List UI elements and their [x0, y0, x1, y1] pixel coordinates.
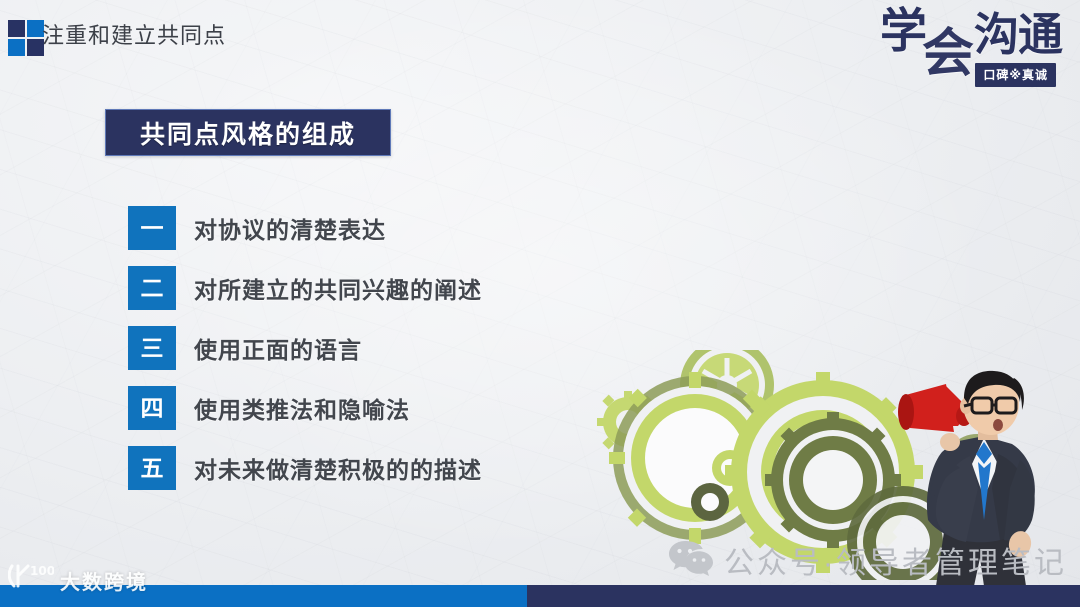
list-item: 五 对未来做清楚积极的的描述 — [128, 446, 558, 490]
numbered-list: 一 对协议的清楚表达 二 对所建立的共同兴趣的阐述 三 使用正面的语言 四 使用… — [128, 206, 558, 506]
list-item-label: 对所建立的共同兴趣的阐述 — [194, 271, 482, 305]
list-item-number: 四 — [128, 386, 176, 430]
list-item-number: 一 — [128, 206, 176, 250]
list-item-number: 二 — [128, 266, 176, 310]
list-item-label: 对未来做清楚积极的的描述 — [194, 451, 482, 485]
dashukuajing-logo-icon: 100 — [8, 562, 54, 595]
brand-logo: 学 会 沟 通 口碑※真诚 — [878, 6, 1068, 94]
list-item: 一 对协议的清楚表达 — [128, 206, 558, 250]
slide: 注重和建立共同点 学 会 沟 通 口碑※真诚 共同点风格的组成 一 对协议的清楚… — [0, 0, 1080, 607]
list-item-label: 对协议的清楚表达 — [194, 211, 386, 245]
brand-char-1: 学 — [880, 8, 926, 55]
svg-text:100: 100 — [30, 564, 54, 578]
section-banner-title: 共同点风格的组成 — [140, 115, 356, 151]
section-banner: 共同点风格的组成 — [105, 109, 391, 156]
list-item-label: 使用正面的语言 — [194, 331, 362, 365]
brand-char-2: 会 — [922, 28, 973, 80]
list-item: 四 使用类推法和隐喻法 — [128, 386, 558, 430]
four-square-logo-icon — [8, 20, 44, 56]
list-item-number: 三 — [128, 326, 176, 370]
list-item: 三 使用正面的语言 — [128, 326, 558, 370]
footer-logo: 100 大数跨境 — [8, 562, 148, 595]
brand-char-4: 通 — [1018, 12, 1062, 57]
brand-char-3: 沟 — [974, 12, 1018, 57]
footer-logo-text: 大数跨境 — [60, 566, 148, 595]
wechat-icon — [668, 539, 714, 582]
list-item: 二 对所建立的共同兴趣的阐述 — [128, 266, 558, 310]
list-item-label: 使用类推法和隐喻法 — [194, 391, 410, 425]
wechat-watermark: 公众号·领导者管理笔记 — [668, 538, 1067, 582]
brand-slogan-badge: 口碑※真诚 — [975, 63, 1056, 87]
list-item-number: 五 — [128, 446, 176, 490]
watermark-text: 公众号·领导者管理笔记 — [724, 538, 1067, 582]
bottom-bar-right — [527, 585, 1080, 607]
page-title: 注重和建立共同点 — [42, 18, 226, 50]
